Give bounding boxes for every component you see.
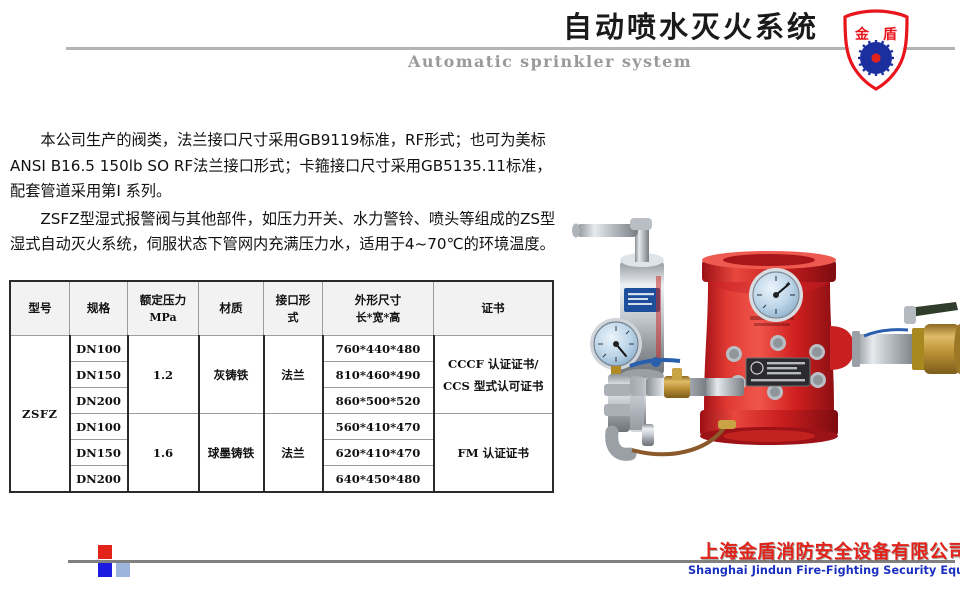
catalog-page: 自动喷水灭火系统 Automatic sprinkler system 金 盾 <box>0 0 960 605</box>
decor-square-red <box>98 545 112 559</box>
th-model: 型号 <box>10 281 70 336</box>
th-material: 材质 <box>199 281 264 336</box>
header-divider <box>66 47 955 50</box>
th-dimensions: 外形尺寸 长*宽*高 <box>323 281 434 336</box>
wet-alarm-valve-photo <box>568 198 960 543</box>
company-name-en: Shanghai Jindun Fire-Fighting Security E… <box>688 564 960 577</box>
svg-text:金: 金 <box>854 26 870 43</box>
cell-spec: DN150 <box>70 440 128 466</box>
cell-spec: DN100 <box>70 336 128 362</box>
th-spec: 规格 <box>70 281 128 336</box>
svg-text:盾: 盾 <box>883 26 897 43</box>
cell-spec: DN150 <box>70 362 128 388</box>
specification-table: 型号 规格 额定压力 MPa 材质 接口形 式 <box>9 280 554 493</box>
page-title: 自动喷水灭火系统 <box>563 13 819 42</box>
page-header: 自动喷水灭火系统 Automatic sprinkler system 金 盾 <box>0 0 960 96</box>
cell-dimension: 810*460*490 <box>323 362 434 388</box>
page-footer: 上海金盾消防安全设备有限公司 Shanghai Jindun Fire-Figh… <box>0 535 960 605</box>
table-row: DN100 1.6 球墨铸铁 法兰 560*410*470 FM 认证证书 <box>10 414 553 440</box>
description-paragraph-2: ZSFZ型湿式报警阀与其他部件，如压力开关、水力警铃、喷头等组成的ZS型湿式自动… <box>10 207 558 258</box>
cell-pressure: 1.6 <box>128 414 199 493</box>
cell-certificate: FM 认证证书 <box>434 414 554 493</box>
cell-certificate: CCCF 认证证书/ CCS 型式认可证书 <box>434 336 554 414</box>
cell-model: ZSFZ <box>10 336 70 493</box>
th-certificate: 证书 <box>434 281 554 336</box>
table-row: ZSFZ DN100 1.2 灰铸铁 法兰 760*440*480 CCCF 认… <box>10 336 553 362</box>
th-connection-type: 接口形 式 <box>264 281 323 336</box>
cell-spec: DN200 <box>70 388 128 414</box>
decor-square-blue <box>98 563 112 577</box>
cell-material: 球墨铸铁 <box>199 414 264 493</box>
cell-dimension: 560*410*470 <box>323 414 434 440</box>
cell-material: 灰铸铁 <box>199 336 264 414</box>
th-rated-pressure: 额定压力 MPa <box>128 281 199 336</box>
cell-connection: 法兰 <box>264 336 323 414</box>
decor-square-light-blue <box>116 563 130 577</box>
cell-spec: DN100 <box>70 414 128 440</box>
company-name-cn: 上海金盾消防安全设备有限公司 <box>700 538 960 564</box>
description-text: 本公司生产的阀类，法兰接口尺寸采用GB9119标准，RF形式；也可为美标ANSI… <box>10 128 558 258</box>
table-header-row: 型号 规格 额定压力 MPa 材质 接口形 式 <box>10 281 553 336</box>
page-subtitle: Automatic sprinkler system <box>408 52 692 71</box>
cell-spec: DN200 <box>70 466 128 493</box>
jindun-shield-logo-icon: 金 盾 <box>837 8 915 92</box>
description-paragraph-1: 本公司生产的阀类，法兰接口尺寸采用GB9119标准，RF形式；也可为美标ANSI… <box>10 128 558 205</box>
cell-dimension: 640*450*480 <box>323 466 434 493</box>
cell-connection: 法兰 <box>264 414 323 493</box>
cell-dimension: 620*410*470 <box>323 440 434 466</box>
cell-dimension: 760*440*480 <box>323 336 434 362</box>
cell-pressure: 1.2 <box>128 336 199 414</box>
specification-table-wrapper: 型号 规格 额定压力 MPa 材质 接口形 式 <box>9 280 544 493</box>
cell-dimension: 860*500*520 <box>323 388 434 414</box>
